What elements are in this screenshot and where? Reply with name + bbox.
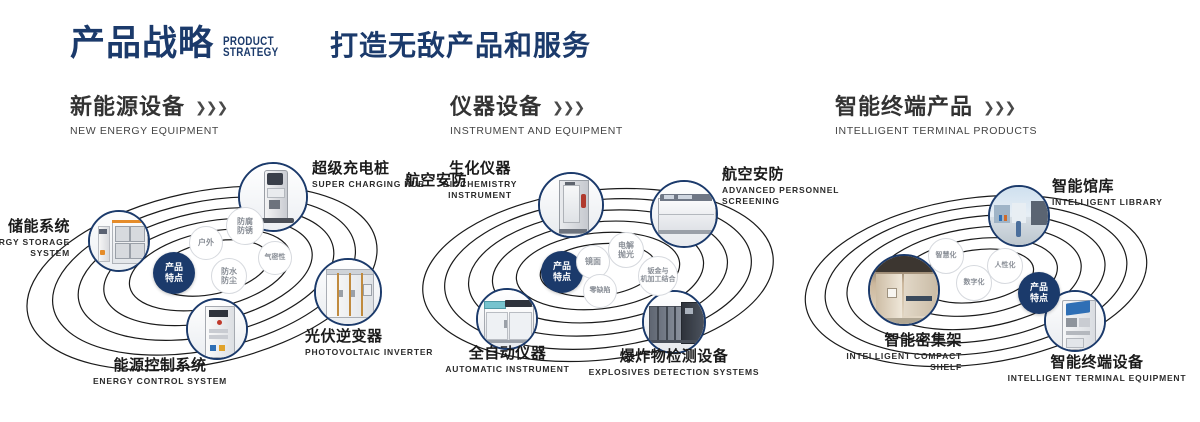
section-title-en: INTELLIGENT TERMINAL PRODUCTS (835, 125, 1037, 137)
caption-automatic-instrument: 全自动仪器 AUTOMATIC INSTRUMENT (420, 345, 595, 375)
node-photo-automatic-instrument[interactable] (476, 288, 538, 350)
bubble-intelligentization[interactable]: 智慧化 (928, 238, 964, 274)
section-header-instrument: 仪器设备 ❯❯❯ INSTRUMENT AND EQUIPMENT (450, 95, 623, 137)
section-header-new-energy: 新能源设备 ❯❯❯ NEW ENERGY EQUIPMENT (70, 95, 227, 137)
node-photo-photovoltaic-inverter[interactable] (314, 258, 382, 326)
compact-shelf-image (870, 256, 938, 324)
caption-explosives-detection: 爆炸物检测设备 EXPLOSIVES DETECTION SYSTEMS (564, 348, 784, 378)
caption-intelligent-library: 智能馆库 INTELLIGENT LIBRARY (1052, 178, 1163, 208)
bubble-humanization[interactable]: 人性化 (987, 248, 1023, 284)
cluster-intelligent: 智能馆库 INTELLIGENT LIBRARY 智能密集架 INTELLIGE… (800, 150, 1200, 400)
caption-energy-storage: 储能系统 ENERGY STORAGE SYSTEM (0, 218, 70, 259)
node-photo-advanced-personnel-screening[interactable] (650, 180, 718, 248)
node-photo-intelligent-compact-shelf[interactable] (868, 254, 940, 326)
bubble-electropolishing[interactable]: 电解 抛光 (608, 232, 644, 268)
caption-intelligent-terminal: 智能终端设备 INTELLIGENT TERMINAL EQUIPMENT (992, 354, 1200, 384)
cluster-new-energy: 储能系统 ENERGY STORAGE SYSTEM 超级充电桩 SUPER C… (0, 150, 420, 400)
energy-storage-device-image (90, 212, 148, 270)
explosives-detection-device-image (644, 292, 704, 352)
node-photo-intelligent-library[interactable] (988, 185, 1050, 247)
bubble-core-product-features[interactable]: 产品 特点 (153, 252, 195, 294)
control-cabinet-device-image (188, 300, 246, 358)
section-title-en: NEW ENERGY EQUIPMENT (70, 125, 227, 137)
inverter-device-image (316, 260, 380, 324)
caption-energy-control-system: 能源控制系统 ENERGY CONTROL SYSTEM (80, 357, 240, 387)
section-title-cn: 新能源设备 ❯❯❯ (70, 95, 227, 119)
bubble-airtightness[interactable]: 气密性 (258, 241, 292, 275)
bubble-zero-defect[interactable]: 零缺陷 (583, 274, 617, 308)
section-title-cn: 智能终端产品 ❯❯❯ (835, 95, 1037, 119)
cluster-instrument: 生化仪器 BIOCHEMISTRY INSTRUMENT 航空安防 航空安防 (400, 150, 820, 400)
masthead: 产品战略 PRODUCT STRATEGY (70, 26, 291, 61)
bubble-outdoor[interactable]: 户外 (189, 226, 223, 260)
caption-aviation-security-stray: 航空安防 (405, 172, 467, 189)
bubble-sheetmetal-machining[interactable]: 钣金与 机加工结合 (638, 256, 678, 296)
screening-device-image (652, 182, 716, 246)
section-title-cn: 仪器设备 ❯❯❯ (450, 95, 623, 119)
infographic-page: 产品战略 PRODUCT STRATEGY 打造无敌产品和服务 新能源设备 ❯❯… (0, 0, 1200, 422)
node-photo-explosives-detection[interactable] (642, 290, 706, 354)
chevron-right-icon: ❯❯❯ (195, 100, 227, 114)
section-header-intelligent: 智能终端产品 ❯❯❯ INTELLIGENT TERMINAL PRODUCTS (835, 95, 1037, 137)
bubble-anticorrosion[interactable]: 防腐 防锈 (226, 207, 264, 245)
section-title-en: INSTRUMENT AND EQUIPMENT (450, 125, 623, 137)
caption-intelligent-compact-shelf: 智能密集架 INTELLIGENT COMPACT SHELF (762, 332, 962, 373)
masthead-title-en: PRODUCT STRATEGY (223, 36, 278, 58)
automatic-instrument-device-image (478, 290, 536, 348)
bubble-core-product-features[interactable]: 产品 特点 (1018, 272, 1060, 314)
masthead-title-en-line2: STRATEGY (223, 47, 278, 58)
biochemistry-device-image (540, 174, 602, 236)
node-photo-energy-storage[interactable] (88, 210, 150, 272)
chevron-right-icon: ❯❯❯ (983, 100, 1015, 114)
node-photo-biochemistry-instrument[interactable] (538, 172, 604, 238)
library-interior-image (990, 187, 1048, 245)
masthead-subtitle: 打造无敌产品和服务 (330, 32, 591, 60)
node-photo-energy-control-system[interactable] (186, 298, 248, 360)
chevron-right-icon: ❯❯❯ (552, 100, 584, 114)
bubble-waterproof-dustproof[interactable]: 防水 防尘 (211, 258, 247, 294)
masthead-title-cn: 产品战略 (70, 26, 214, 61)
